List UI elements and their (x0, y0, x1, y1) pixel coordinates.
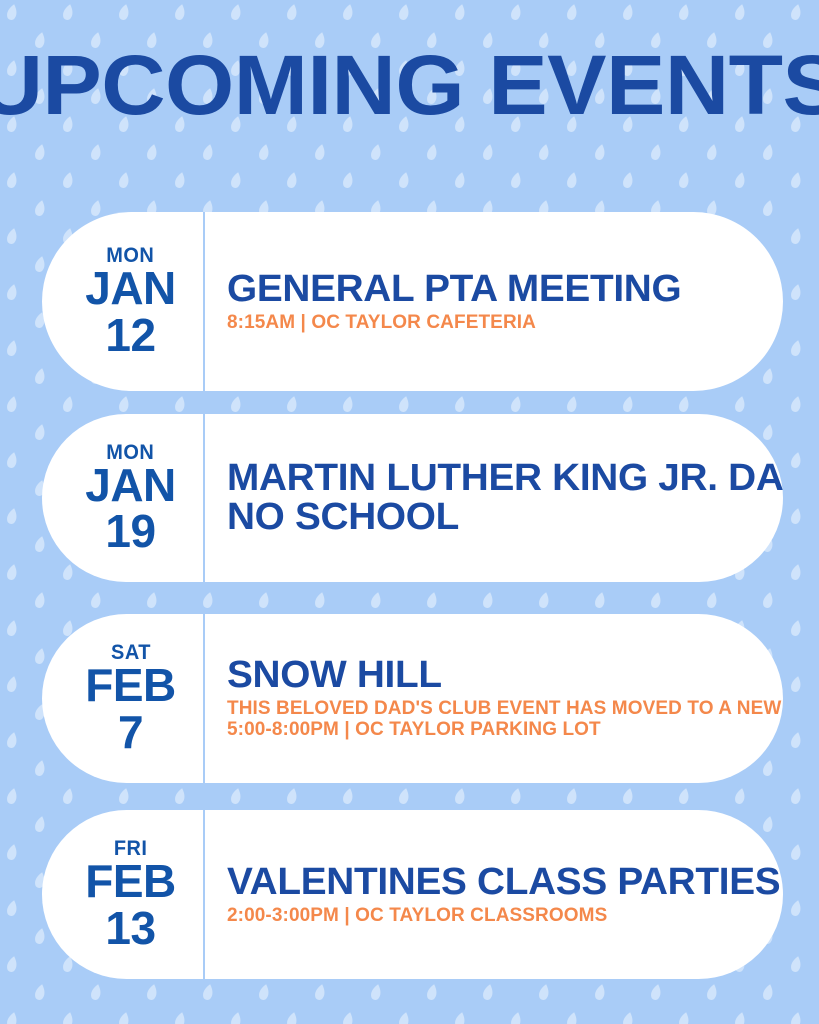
event-details: GENERAL PTA MEETING 8:15AM | OC TAYLOR C… (205, 212, 783, 391)
event-title: SNOW HILL (227, 656, 783, 695)
event-title-line: NO SCHOOL (227, 498, 783, 537)
event-title-line: GENERAL PTA MEETING (227, 270, 770, 309)
event-month: JAN (85, 267, 176, 309)
event-month: JAN (85, 464, 176, 506)
event-subtitle-line: THIS BELOVED DAD'S CLUB EVENT HAS MOVED … (227, 698, 783, 719)
event-card[interactable]: MON JAN 19 MARTIN LUTHER KING JR. DAY NO… (42, 414, 783, 582)
event-date-block: FRI FEB 13 (42, 810, 203, 979)
event-details: MARTIN LUTHER KING JR. DAY NO SCHOOL (205, 414, 783, 582)
event-day-number: 13 (105, 905, 155, 951)
event-subtitle: 8:15AM | OC TAYLOR CAFETERIA (227, 312, 759, 333)
events-list: MON JAN 12 GENERAL PTA MEETING 8:15AM | … (42, 212, 783, 979)
event-details: VALENTINES CLASS PARTIES 2:00-3:00PM | O… (205, 810, 783, 979)
event-card[interactable]: FRI FEB 13 VALENTINES CLASS PARTIES 2:00… (42, 810, 783, 979)
event-card[interactable]: SAT FEB 7 SNOW HILL THIS BELOVED DAD'S C… (42, 614, 783, 783)
event-day-number: 12 (105, 312, 155, 358)
event-day-number: 7 (118, 709, 143, 755)
poster-header: UPCOMING EVENTS (0, 44, 819, 126)
event-title-line: VALENTINES CLASS PARTIES (227, 863, 780, 902)
event-month: FEB (85, 860, 176, 902)
event-subtitle: THIS BELOVED DAD'S CLUB EVENT HAS MOVED … (227, 698, 783, 741)
event-subtitle: 2:00-3:00PM | OC TAYLOR CLASSROOMS (227, 905, 769, 926)
event-details: SNOW HILL THIS BELOVED DAD'S CLUB EVENT … (205, 614, 783, 783)
poster-canvas: UPCOMING EVENTS MON JAN 12 GENERAL PTA M… (0, 0, 819, 1024)
event-subtitle-line: 2:00-3:00PM | OC TAYLOR CLASSROOMS (227, 905, 769, 926)
event-month: FEB (85, 664, 176, 706)
event-date-block: SAT FEB 7 (42, 614, 203, 783)
event-title: MARTIN LUTHER KING JR. DAY NO SCHOOL (227, 459, 783, 537)
page-title: UPCOMING EVENTS (0, 44, 819, 126)
event-date-block: MON JAN 19 (42, 414, 203, 582)
event-day-number: 19 (105, 508, 155, 554)
event-subtitle-line: 8:15AM | OC TAYLOR CAFETERIA (227, 312, 759, 333)
event-card[interactable]: MON JAN 12 GENERAL PTA MEETING 8:15AM | … (42, 212, 783, 391)
event-title-line: MARTIN LUTHER KING JR. DAY (227, 459, 783, 498)
event-title-line: SNOW HILL (227, 656, 783, 695)
event-subtitle-line: 5:00-8:00PM | OC TAYLOR PARKING LOT (227, 719, 783, 740)
event-title: VALENTINES CLASS PARTIES (227, 863, 780, 902)
event-title: GENERAL PTA MEETING (227, 270, 770, 309)
event-date-block: MON JAN 12 (42, 212, 203, 391)
